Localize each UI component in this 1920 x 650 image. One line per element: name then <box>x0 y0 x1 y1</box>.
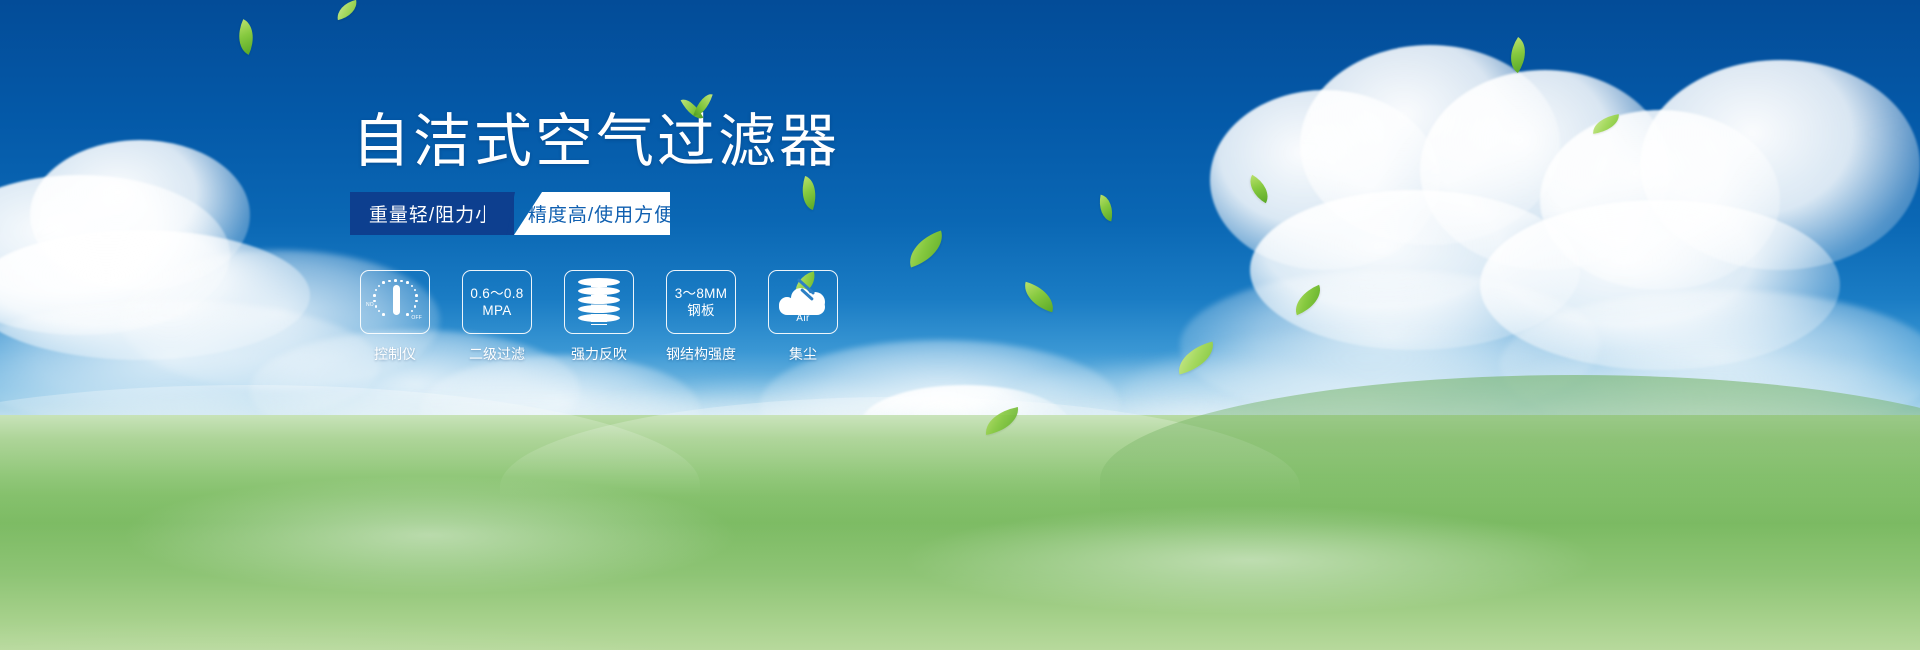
feature-text-line1: 0.6～0.8 <box>470 286 523 301</box>
feature-label: 钢结构强度 <box>666 344 736 364</box>
tag-weight-resistance[interactable]: 重量轻/阻力小 <box>350 192 514 235</box>
feature-icon-box: 0.6～0.8 MPA <box>462 270 532 334</box>
gauge-no-label: NO <box>366 302 374 308</box>
filter-cartridge-icon <box>575 277 623 327</box>
feature-icon-box: Air <box>768 270 838 334</box>
title-leaf-icon <box>686 92 708 124</box>
feature-label: 控制仪 <box>374 344 416 364</box>
feature-icon-box <box>564 270 634 334</box>
cloud-air-icon: Air <box>775 279 831 325</box>
feature-icon-box: 3～8MM 钢板 <box>666 270 736 334</box>
feature-item-dust-collection[interactable]: Air 集尘 <box>765 270 841 364</box>
page-title: 自洁式空气过滤器 <box>352 111 840 174</box>
feature-label: 强力反吹 <box>571 344 627 364</box>
feature-icon-row: NO OFF 控制仪 0.6～0.8 MPA 二级过滤 <box>357 270 841 364</box>
feature-text-line1: 3～8MM <box>675 286 728 301</box>
tag-label: 精度高/使用方便 <box>528 200 674 227</box>
feature-item-controller[interactable]: NO OFF 控制仪 <box>357 270 433 364</box>
feature-icon-box: NO OFF <box>360 270 430 334</box>
product-banner: 自洁式空气过滤器 重量轻/阻力小 精度高/使用方便 <box>0 0 1920 650</box>
feature-item-steel-strength[interactable]: 3～8MM 钢板 钢结构强度 <box>663 270 739 364</box>
air-label: Air <box>775 313 831 324</box>
feature-text-line2: 钢板 <box>675 302 728 319</box>
tag-label: 重量轻/阻力小 <box>369 200 495 227</box>
feature-label: 集尘 <box>789 344 817 364</box>
gauge-icon: NO OFF <box>367 277 423 327</box>
feature-label: 二级过滤 <box>469 344 525 364</box>
feature-item-backblow[interactable]: 强力反吹 <box>561 270 637 364</box>
feature-item-secondary-filter[interactable]: 0.6～0.8 MPA 二级过滤 <box>459 270 535 364</box>
feature-text-line2: MPA <box>470 302 523 319</box>
tag-precision-convenience[interactable]: 精度高/使用方便 <box>514 192 670 235</box>
gauge-off-label: OFF <box>411 315 422 321</box>
